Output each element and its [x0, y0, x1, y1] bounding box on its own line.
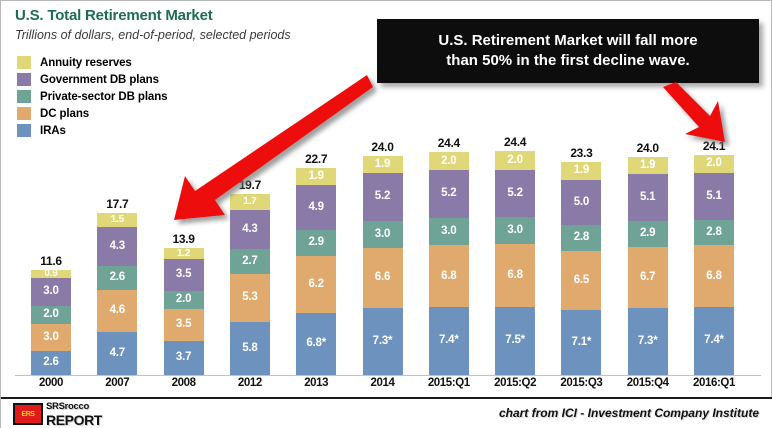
x-axis-tick-label: 2008	[152, 377, 216, 389]
bar-segment[interactable]: 3.0	[31, 278, 71, 305]
bar-segment[interactable]: 4.7	[97, 332, 137, 375]
bar-group[interactable]: 24.01.95.12.96.77.3*	[626, 141, 670, 375]
bar-group[interactable]: 22.71.94.92.96.26.8*	[294, 152, 338, 375]
bar-total-label: 19.7	[239, 178, 261, 192]
bar-total-label: 24.0	[637, 141, 659, 155]
chart-infographic: U.S. Total Retirement Market Trillions o…	[0, 0, 772, 428]
bar-segment[interactable]: 2.7	[230, 249, 270, 274]
bar-segment[interactable]: 2.0	[694, 155, 734, 173]
x-axis-tick-label: 2015:Q4	[616, 377, 680, 389]
page-title: U.S. Total Retirement Market	[15, 7, 213, 24]
bar-segment[interactable]: 2.8	[561, 225, 601, 251]
bar-segment[interactable]: 3.0	[363, 221, 403, 248]
bar-group[interactable]: 19.71.74.32.75.35.8	[228, 178, 272, 375]
bar-segment[interactable]: 6.7	[628, 247, 668, 308]
bar-segment[interactable]: 7.3*	[628, 308, 668, 375]
bar-segment[interactable]: 5.0	[561, 180, 601, 226]
bar-total-label: 17.7	[106, 197, 128, 211]
bar-segment[interactable]: 3.0	[429, 218, 469, 245]
callout-line-1: U.S. Retirement Market will fall more	[438, 32, 697, 49]
x-axis-tick-label: 2015:Q1	[417, 377, 481, 389]
legend-item: Government DB plans	[17, 72, 167, 87]
bar-segment[interactable]: 7.3*	[363, 308, 403, 375]
footer-bar: ERS SRSrocco REPORT chart from ICI - Inv…	[1, 397, 772, 428]
x-axis-tick-label: 2000	[19, 377, 83, 389]
bar-segment[interactable]: 1.2	[164, 248, 204, 259]
bar-segment[interactable]: 1.9	[296, 168, 336, 185]
bar-segment[interactable]: 1.9	[628, 157, 668, 174]
bar-segment[interactable]: 6.2	[296, 256, 336, 313]
bar-group[interactable]: 24.12.05.12.86.87.4*	[692, 139, 736, 375]
bar-stack[interactable]: 0.93.02.03.02.6	[31, 270, 71, 375]
bar-segment[interactable]: 3.7	[164, 341, 204, 375]
callout-box: U.S. Retirement Market will fall more th…	[377, 19, 759, 83]
bar-stack[interactable]: 1.23.52.03.53.7	[164, 248, 204, 375]
bar-segment[interactable]: 0.9	[31, 270, 71, 278]
bar-total-label: 23.3	[570, 146, 592, 160]
bar-segment[interactable]: 7.1*	[561, 310, 601, 375]
bar-total-label: 24.1	[703, 139, 725, 153]
bar-total-label: 13.9	[173, 232, 195, 246]
bar-group[interactable]: 13.91.23.52.03.53.7	[162, 232, 206, 375]
brand-glyph: ERS	[22, 411, 35, 418]
bar-segment[interactable]: 2.6	[31, 351, 71, 375]
callout-line-2: than 50% in the first decline wave.	[446, 52, 689, 69]
bar-segment[interactable]: 2.0	[495, 151, 535, 169]
bar-segment[interactable]: 2.0	[31, 306, 71, 324]
bar-group[interactable]: 11.60.93.02.03.02.6	[29, 254, 73, 375]
x-axis-tick-label: 2007	[85, 377, 149, 389]
x-axis-tick-label: 2014	[351, 377, 415, 389]
bar-segment[interactable]: 5.2	[429, 170, 469, 217]
legend-label: Annuity reserves	[40, 57, 132, 69]
bar-segment[interactable]: 6.8*	[296, 313, 336, 375]
bar-segment[interactable]: 3.5	[164, 309, 204, 341]
brand-name-bottom: REPORT	[46, 413, 102, 427]
bar-segment[interactable]: 5.2	[495, 170, 535, 217]
bar-stack[interactable]: 2.05.12.86.87.4*	[694, 155, 734, 375]
bar-segment[interactable]: 3.5	[164, 259, 204, 291]
legend-label: Government DB plans	[40, 74, 159, 86]
bar-segment[interactable]: 5.1	[628, 174, 668, 221]
bar-segment[interactable]: 1.7	[230, 194, 270, 210]
bar-segment[interactable]: 4.9	[296, 185, 336, 230]
bar-group[interactable]: 24.01.95.23.06.67.3*	[361, 140, 405, 375]
x-axis-tick-label: 2016:Q1	[682, 377, 746, 389]
chart-subtitle: Trillions of dollars, end-of-period, sel…	[15, 28, 291, 42]
bar-stack[interactable]: 1.95.12.96.77.3*	[628, 157, 668, 375]
x-axis-labels: 2000200720082012201320142015:Q12015:Q220…	[1, 377, 772, 399]
bar-total-label: 22.7	[305, 152, 327, 166]
bar-total-label: 11.6	[40, 254, 62, 268]
bar-segment[interactable]: 2.0	[164, 291, 204, 309]
legend-item: Annuity reserves	[17, 55, 167, 70]
bar-stack[interactable]: 1.94.92.96.26.8*	[296, 168, 336, 375]
bar-segment[interactable]: 6.8	[495, 244, 535, 306]
bar-segment[interactable]: 5.3	[230, 274, 270, 322]
bar-segment[interactable]: 6.8	[694, 245, 734, 307]
bar-total-label: 24.4	[438, 136, 460, 150]
bar-segment[interactable]: 6.6	[363, 248, 403, 308]
bar-total-label: 24.4	[504, 135, 526, 149]
bar-segment[interactable]: 1.5	[97, 213, 137, 227]
brand-name-top: SRSrocco	[46, 402, 102, 412]
bar-stack[interactable]: 2.05.23.06.87.4*	[429, 152, 469, 375]
bar-segment[interactable]: 7.4*	[694, 307, 734, 375]
bar-segment[interactable]: 2.9	[296, 230, 336, 256]
us-map-icon: ERS	[13, 403, 43, 425]
callout-text: U.S. Retirement Market will fall more th…	[438, 31, 697, 71]
bar-stack[interactable]: 1.95.23.06.67.3*	[363, 156, 403, 375]
bar-stack[interactable]: 1.54.32.64.64.7	[97, 213, 137, 375]
x-axis-tick-label: 2012	[218, 377, 282, 389]
bar-segment[interactable]: 2.6	[97, 266, 137, 290]
bar-segment[interactable]: 2.8	[694, 220, 734, 246]
bar-segment[interactable]: 1.9	[363, 156, 403, 173]
bar-segment[interactable]: 5.1	[694, 173, 734, 220]
bar-segment[interactable]: 5.8	[230, 322, 270, 375]
bar-segment[interactable]: 4.3	[97, 227, 137, 266]
bar-segment[interactable]: 4.6	[97, 290, 137, 332]
brand-wordmark: SRSrocco REPORT	[46, 402, 102, 427]
bar-segment[interactable]: 4.3	[230, 210, 270, 249]
x-axis-tick-label: 2013	[284, 377, 348, 389]
legend-swatch-icon	[17, 73, 31, 86]
bar-group[interactable]: 24.42.05.23.06.87.5*	[493, 135, 537, 375]
bar-segment[interactable]: 6.5	[561, 251, 601, 310]
bar-stack[interactable]: 2.05.23.06.87.5*	[495, 151, 535, 375]
bar-segment[interactable]: 7.4*	[429, 307, 469, 375]
bar-stack[interactable]: 1.95.02.86.57.1*	[561, 162, 601, 375]
bar-total-label: 24.0	[371, 140, 393, 154]
bar-group[interactable]: 23.31.95.02.86.57.1*	[559, 146, 603, 375]
bar-group[interactable]: 17.71.54.32.64.64.7	[95, 197, 139, 375]
x-axis-tick-label: 2015:Q3	[549, 377, 613, 389]
bar-segment[interactable]: 5.2	[363, 173, 403, 220]
bar-segment[interactable]: 3.0	[31, 324, 71, 351]
bar-segment[interactable]: 2.9	[628, 221, 668, 247]
axis-baseline	[15, 375, 761, 376]
bar-segment[interactable]: 1.9	[561, 162, 601, 179]
x-axis-tick-label: 2015:Q2	[483, 377, 547, 389]
srsrocco-logo: ERS SRSrocco REPORT	[13, 402, 102, 427]
bar-segment[interactable]: 7.5*	[495, 307, 535, 375]
bar-group[interactable]: 24.42.05.23.06.87.4*	[427, 136, 471, 375]
bar-segment[interactable]: 3.0	[495, 217, 535, 244]
legend-swatch-icon	[17, 56, 31, 69]
bar-segment[interactable]: 2.0	[429, 152, 469, 170]
bar-segment[interactable]: 6.8	[429, 245, 469, 307]
source-attribution: chart from ICI - Investment Company Inst…	[499, 406, 759, 420]
bar-stack[interactable]: 1.74.32.75.35.8	[230, 194, 270, 375]
plot-area: 11.60.93.02.03.02.617.71.54.32.64.64.713…	[1, 96, 772, 376]
